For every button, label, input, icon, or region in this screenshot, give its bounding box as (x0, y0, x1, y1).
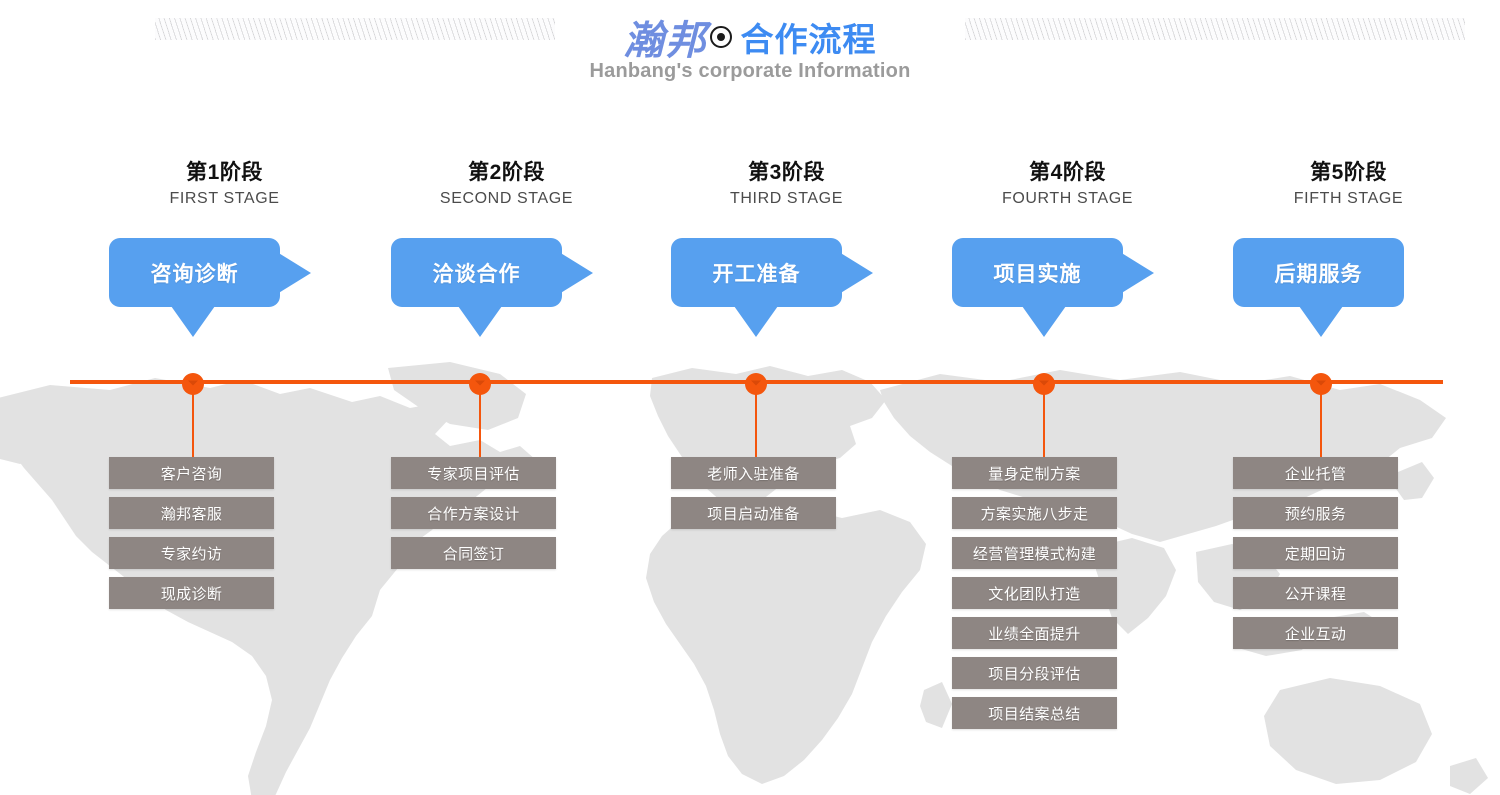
stage-item-list-2: 专家项目评估合作方案设计合同签订 (391, 457, 672, 577)
stage-badge-label: 洽谈合作 (433, 258, 521, 288)
stage-title-en: THIRD STAGE (646, 188, 927, 210)
stage-item-label: 客户咨询 (161, 463, 223, 484)
badge-tail-icon (1022, 306, 1066, 337)
stage-badge-wrap-3: 开工准备 (671, 238, 952, 338)
timeline-node-2[interactable] (469, 373, 491, 395)
stage-item-label: 项目启动准备 (707, 503, 799, 524)
timeline-node-3[interactable] (745, 373, 767, 395)
stage-badge-wrap-4: 项目实施 (952, 238, 1233, 338)
stage-title-cn: 第5阶段 (1208, 160, 1489, 186)
stage-item-label: 方案实施八步走 (981, 503, 1089, 524)
stage-badge-label: 项目实施 (994, 258, 1082, 288)
stage-item[interactable]: 企业托管 (1233, 457, 1398, 489)
stage-badge-3[interactable]: 开工准备 (671, 238, 842, 307)
stage-item[interactable]: 预约服务 (1233, 497, 1398, 529)
stage-item[interactable]: 合同签订 (391, 537, 556, 569)
stage-item-label: 文化团队打造 (988, 583, 1080, 604)
stage-header-1: 第1阶段FIRST STAGE (84, 160, 365, 210)
stage-title-en: FIFTH STAGE (1208, 188, 1489, 210)
stage-item[interactable]: 项目启动准备 (671, 497, 836, 529)
stage-item[interactable]: 经营管理模式构建 (952, 537, 1117, 569)
stage-title-cn: 第1阶段 (84, 160, 365, 186)
stage-item-label: 专家项目评估 (427, 463, 519, 484)
timeline-node-1[interactable] (182, 373, 204, 395)
stage-title-en: SECOND STAGE (366, 188, 647, 210)
stage-item-label: 合作方案设计 (427, 503, 519, 524)
stage-item-label: 业绩全面提升 (988, 623, 1080, 644)
stage-badge-wrap-1: 咨询诊断 (109, 238, 390, 338)
stage-item-list-1: 客户咨询瀚邦客服专家约访现成诊断 (109, 457, 390, 617)
timeline-node-4[interactable] (1033, 373, 1055, 395)
stage-item[interactable]: 企业互动 (1233, 617, 1398, 649)
badge-tail-icon (171, 306, 215, 337)
stage-title-cn: 第2阶段 (366, 160, 647, 186)
stage-title-en: FIRST STAGE (84, 188, 365, 210)
stage-item[interactable]: 专家约访 (109, 537, 274, 569)
page-title: 合作流程 (741, 21, 877, 58)
stage-item-list-5: 企业托管预约服务定期回访公开课程企业互动 (1233, 457, 1500, 657)
stage-item-label: 企业互动 (1285, 623, 1347, 644)
stage-item[interactable]: 瀚邦客服 (109, 497, 274, 529)
stage-item[interactable]: 专家项目评估 (391, 457, 556, 489)
process-flow: 第1阶段FIRST STAGE咨询诊断客户咨询瀚邦客服专家约访现成诊断第2阶段S… (0, 0, 1500, 795)
stage-item[interactable]: 文化团队打造 (952, 577, 1117, 609)
stage-item-label: 现成诊断 (161, 583, 223, 604)
stage-badge-1[interactable]: 咨询诊断 (109, 238, 280, 307)
stage-item-label: 瀚邦客服 (161, 503, 223, 524)
stage-title-en: FOURTH STAGE (927, 188, 1208, 210)
timeline-node-5[interactable] (1310, 373, 1332, 395)
stage-title-cn: 第4阶段 (927, 160, 1208, 186)
badge-tail-icon (734, 306, 778, 337)
target-ring-icon (710, 26, 732, 48)
stage-header-2: 第2阶段SECOND STAGE (366, 160, 647, 210)
stage-item[interactable]: 项目分段评估 (952, 657, 1117, 689)
stage-item[interactable]: 方案实施八步走 (952, 497, 1117, 529)
stage-item[interactable]: 客户咨询 (109, 457, 274, 489)
stage-item[interactable]: 量身定制方案 (952, 457, 1117, 489)
stage-item[interactable]: 合作方案设计 (391, 497, 556, 529)
stage-item[interactable]: 老师入驻准备 (671, 457, 836, 489)
page-header: 瀚邦合作流程 Hanbang's corporate Information (0, 0, 1500, 100)
badge-tail-icon (458, 306, 502, 337)
stage-item-label: 公开课程 (1285, 583, 1347, 604)
stage-badge-5[interactable]: 后期服务 (1233, 238, 1404, 307)
badge-arrow-right-icon (559, 252, 593, 294)
stage-item-label: 定期回访 (1285, 543, 1347, 564)
stage-badge-4[interactable]: 项目实施 (952, 238, 1123, 307)
logo-text: 瀚邦 (624, 17, 708, 64)
stage-item-label: 老师入驻准备 (707, 463, 799, 484)
stage-badge-label: 咨询诊断 (151, 258, 239, 288)
title-row: 瀚邦合作流程 (0, 8, 1500, 66)
stage-title-cn: 第3阶段 (646, 160, 927, 186)
stage-badge-wrap-2: 洽谈合作 (391, 238, 672, 338)
stage-item-list-3: 老师入驻准备项目启动准备 (671, 457, 952, 537)
stage-item-label: 经营管理模式构建 (973, 543, 1096, 564)
stage-badge-wrap-5: 后期服务 (1233, 238, 1500, 338)
stage-header-4: 第4阶段FOURTH STAGE (927, 160, 1208, 210)
stage-item[interactable]: 公开课程 (1233, 577, 1398, 609)
stage-item[interactable]: 定期回访 (1233, 537, 1398, 569)
stage-badge-2[interactable]: 洽谈合作 (391, 238, 562, 307)
badge-arrow-right-icon (277, 252, 311, 294)
stage-item-label: 预约服务 (1285, 503, 1347, 524)
stage-item-list-4: 量身定制方案方案实施八步走经营管理模式构建文化团队打造业绩全面提升项目分段评估项… (952, 457, 1233, 737)
stage-header-3: 第3阶段THIRD STAGE (646, 160, 927, 210)
badge-arrow-right-icon (1120, 252, 1154, 294)
stage-item-label: 项目结案总结 (988, 703, 1080, 724)
stage-item-label: 企业托管 (1285, 463, 1347, 484)
page-subtitle: Hanbang's corporate Information (0, 60, 1500, 83)
stage-item-label: 项目分段评估 (988, 663, 1080, 684)
stage-item-label: 合同签订 (443, 543, 505, 564)
stage-badge-label: 开工准备 (713, 258, 801, 288)
stage-badge-label: 后期服务 (1275, 258, 1363, 288)
stage-item[interactable]: 业绩全面提升 (952, 617, 1117, 649)
stage-item-label: 量身定制方案 (988, 463, 1080, 484)
badge-arrow-right-icon (839, 252, 873, 294)
stage-item[interactable]: 现成诊断 (109, 577, 274, 609)
stage-item-label: 专家约访 (161, 543, 223, 564)
badge-tail-icon (1299, 306, 1343, 337)
stage-header-5: 第5阶段FIFTH STAGE (1208, 160, 1489, 210)
stage-item[interactable]: 项目结案总结 (952, 697, 1117, 729)
